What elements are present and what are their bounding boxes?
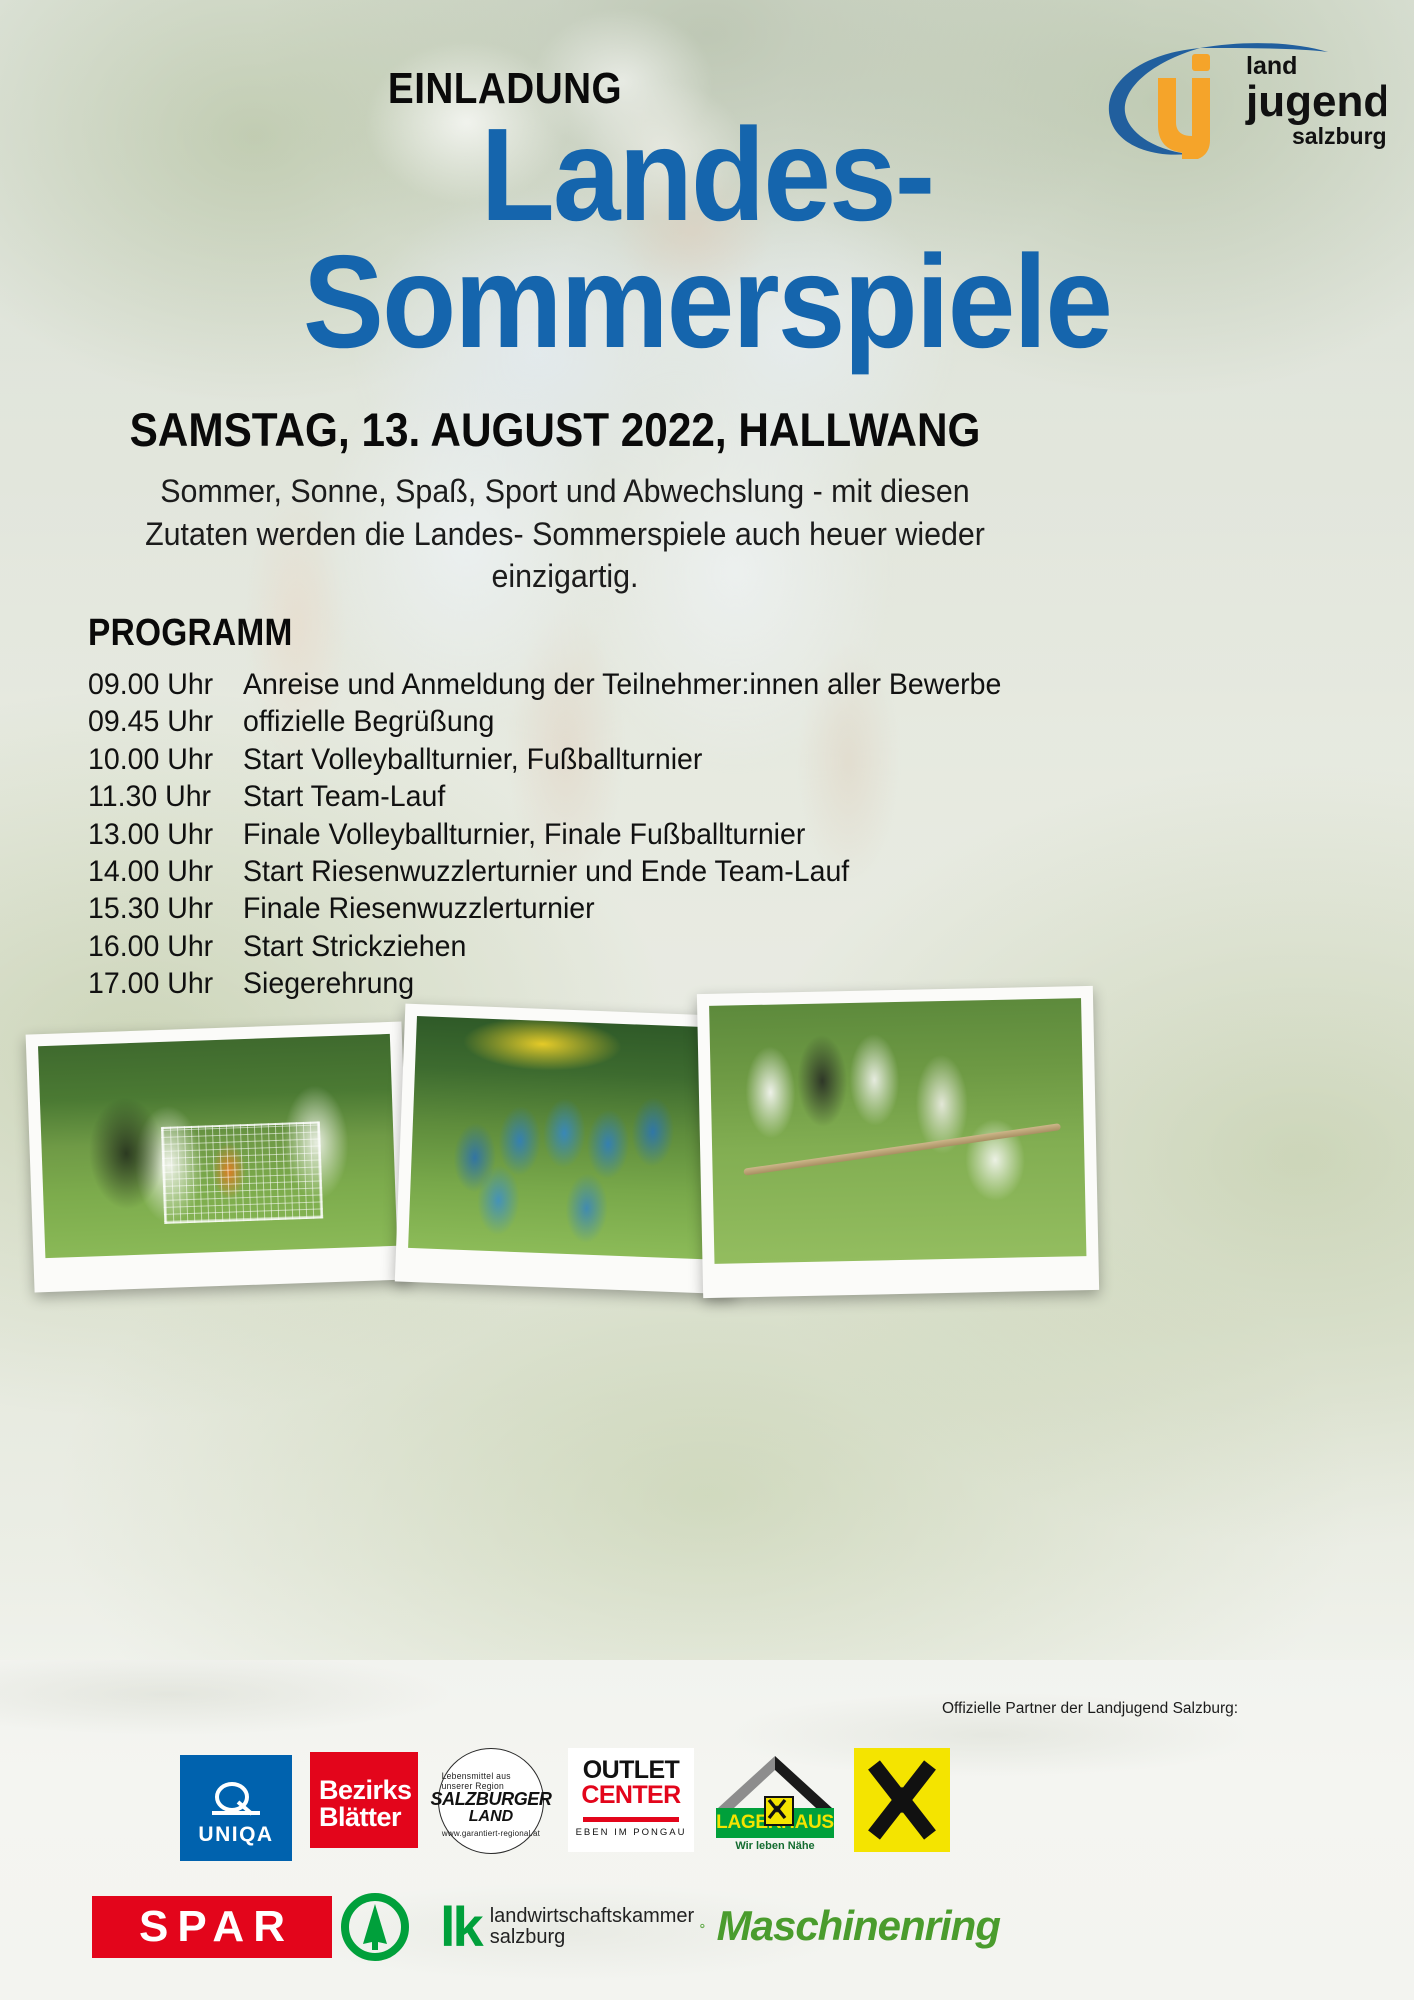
outlet-divider bbox=[583, 1817, 679, 1822]
schedule-time: 13.00 Uhr bbox=[88, 818, 235, 852]
sponsor-outletcenter[interactable]: OUTLET CENTER EBEN IM PONGAU bbox=[568, 1748, 694, 1852]
schedule-row: 14.00 UhrStart Riesenwuzzlerturnier und … bbox=[88, 855, 1098, 892]
sponsor-spar[interactable]: SPAR bbox=[92, 1896, 332, 1958]
schedule-desc: Anreise und Anmeldung der Teilnehmer:inn… bbox=[243, 668, 1001, 702]
sponsor-raiffeisen[interactable] bbox=[854, 1748, 950, 1852]
programm-heading: PROGRAMM bbox=[88, 612, 293, 655]
lk-mark: lk bbox=[440, 1902, 481, 1952]
photo-soccer-image bbox=[38, 1034, 397, 1258]
outlet-sub: EBEN IM PONGAU bbox=[576, 1827, 687, 1838]
programm-schedule: 09.00 UhrAnreise und Anmeldung der Teiln… bbox=[88, 668, 1098, 1005]
schedule-time: 09.00 Uhr bbox=[88, 668, 235, 702]
schedule-row: 09.00 UhrAnreise und Anmeldung der Teiln… bbox=[88, 668, 1098, 705]
spar-tree-icon bbox=[340, 1892, 410, 1962]
schedule-desc: Finale Volleyballturnier, Finale Fußball… bbox=[243, 818, 805, 852]
schedule-time: 15.30 Uhr bbox=[88, 892, 235, 926]
intro-paragraph: Sommer, Sonne, Spaß, Sport und Abwechslu… bbox=[123, 470, 1007, 598]
lk-line-1: landwirtschaftskammer bbox=[490, 1906, 695, 1927]
title-line-2: Sommerspiele bbox=[57, 239, 1358, 366]
schedule-time: 16.00 Uhr bbox=[88, 930, 235, 964]
outlet-line-2: CENTER bbox=[581, 1783, 680, 1808]
partner-note: Offizielle Partner der Landjugend Salzbu… bbox=[890, 1700, 1290, 1718]
schedule-desc: Finale Riesenwuzzlerturnier bbox=[243, 892, 595, 926]
salzburgerland-url: www.garantiert-regional.at bbox=[442, 1829, 540, 1838]
schedule-time: 10.00 Uhr bbox=[88, 743, 235, 777]
salzburgerland-name-1: SALZBURGER bbox=[431, 1791, 552, 1808]
sponsor-uniqa[interactable]: UNIQA bbox=[180, 1755, 292, 1861]
schedule-row: 11.30 UhrStart Team-Lauf bbox=[88, 780, 1098, 817]
salzburgerland-top-text: Lebensmittel aus unserer Region bbox=[442, 1771, 541, 1791]
outlet-line-1: OUTLET bbox=[583, 1758, 679, 1783]
raiffeisen-gable-icon bbox=[764, 1796, 794, 1826]
photo-strip bbox=[0, 980, 1414, 1340]
schedule-desc: Start Riesenwuzzlerturnier und Ende Team… bbox=[243, 855, 849, 889]
page-title: Landes- Sommerspiele bbox=[0, 112, 1414, 365]
bezirks-line-1: Bezirks bbox=[319, 1777, 412, 1804]
event-date-line: SAMSTAG, 13. AUGUST 2022, HALLWANG bbox=[56, 402, 1055, 457]
uniqa-label: UNIQA bbox=[198, 1823, 273, 1847]
title-line-1: Landes- bbox=[57, 112, 1358, 239]
schedule-time: 09.45 Uhr bbox=[88, 705, 235, 739]
spar-label: SPAR bbox=[130, 1902, 294, 1952]
schedule-row: 10.00 UhrStart Volleyballturnier, Fußbal… bbox=[88, 743, 1098, 780]
goal-net bbox=[161, 1121, 323, 1224]
svg-text:land: land bbox=[1246, 52, 1297, 80]
sponsor-bezirksblaetter[interactable]: Bezirks Blätter bbox=[310, 1752, 418, 1848]
schedule-desc: Start Strickziehen bbox=[243, 930, 466, 964]
photo-tugofwar-image bbox=[709, 998, 1086, 1264]
salzburgerland-name-2: LAND bbox=[469, 1809, 513, 1825]
poster-root: EINLADUNG land jugend salzburg Landes- S… bbox=[0, 0, 1414, 2000]
sponsor-lagerhaus[interactable]: LAGERHAUS Wir leben Nähe bbox=[716, 1748, 834, 1852]
schedule-desc: offizielle Begrüßung bbox=[243, 705, 494, 739]
photo-team-group bbox=[395, 1004, 745, 1295]
sponsor-salzburgerland[interactable]: Lebensmittel aus unserer Region SALZBURG… bbox=[438, 1748, 544, 1854]
schedule-desc: Start Volleyballturnier, Fußballturnier bbox=[243, 743, 702, 777]
schedule-desc: Start Team-Lauf bbox=[243, 780, 445, 814]
lk-text: landwirtschaftskammer salzburg bbox=[490, 1906, 695, 1948]
lagerhaus-slogan: Wir leben Nähe bbox=[716, 1840, 834, 1852]
uniqa-mark-icon bbox=[208, 1780, 264, 1820]
maschinenring-label: Maschinenring bbox=[717, 1902, 1000, 1950]
schedule-time: 11.30 Uhr bbox=[88, 780, 235, 814]
schedule-time: 14.00 Uhr bbox=[88, 855, 235, 889]
photo-soccer-match bbox=[26, 1022, 411, 1293]
sponsor-landwirtschaftskammer[interactable]: lk landwirtschaftskammer salzburg bbox=[440, 1896, 702, 1958]
sponsor-maschinenring[interactable]: MR Maschinenring bbox=[700, 1890, 1000, 1962]
schedule-row: 13.00 UhrFinale Volleyballturnier, Final… bbox=[88, 818, 1098, 855]
tug-rope bbox=[743, 1124, 1061, 1177]
photo-team-image bbox=[408, 1016, 733, 1260]
schedule-row: 15.30 UhrFinale Riesenwuzzlerturnier bbox=[88, 892, 1098, 929]
maschinenring-gear-icon: MR bbox=[700, 1895, 705, 1957]
schedule-row: 16.00 UhrStart Strickziehen bbox=[88, 930, 1098, 967]
schedule-row: 09.45 Uhroffizielle Begrüßung bbox=[88, 705, 1098, 742]
photo-tug-of-war bbox=[697, 986, 1099, 1298]
bezirks-line-2: Blätter bbox=[319, 1804, 401, 1831]
lk-line-2: salzburg bbox=[490, 1927, 695, 1948]
raiffeisen-gable-icon bbox=[866, 1759, 938, 1841]
